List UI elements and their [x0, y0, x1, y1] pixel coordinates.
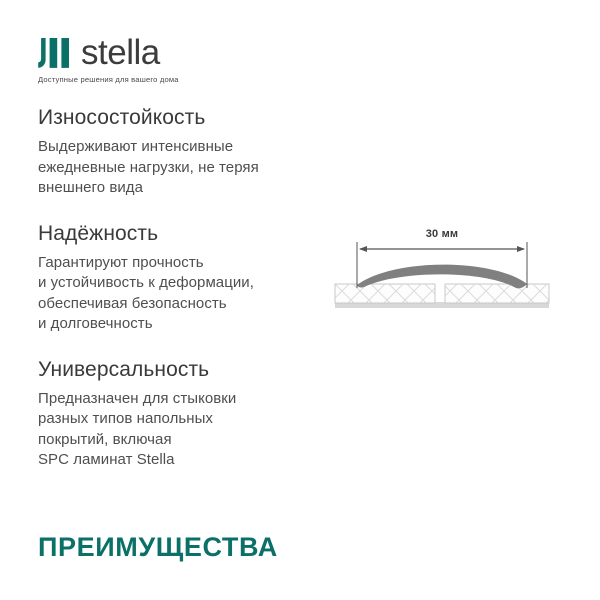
feature-body: Выдерживают интенсивные ежедневные нагру…: [38, 137, 323, 199]
floor-panel-left: [335, 284, 435, 303]
feature-item: Универсальность Предназначен для стыковк…: [38, 357, 323, 471]
feature-title: Надёжность: [38, 221, 323, 247]
feature-body: Предназначен для стыковки разных типов н…: [38, 389, 323, 471]
page-headline: ПРЕИМУЩЕСТВА: [38, 531, 278, 563]
stella-bars-logo-icon: [38, 38, 72, 68]
brand-tagline: Доступные решения для вашего дома: [38, 75, 298, 85]
feature-body: Гарантируют прочность и устойчивость к д…: [38, 253, 323, 335]
product-cross-section-diagram: 30 мм: [333, 228, 551, 316]
brand-wordmark: stella: [81, 36, 160, 70]
brand-logo: stella Доступные решения для вашего дома: [38, 36, 298, 85]
feature-title: Износостойкость: [38, 105, 323, 131]
feature-list: Износостойкость Выдерживают интенсивные …: [38, 105, 323, 471]
feature-item: Надёжность Гарантируют прочность и устой…: [38, 221, 323, 335]
dim-arrowhead-right: [517, 246, 525, 252]
dim-arrowhead-left: [359, 246, 367, 252]
feature-item: Износостойкость Выдерживают интенсивные …: [38, 105, 323, 199]
diagram-svg: [333, 228, 551, 316]
dimension-label: 30 мм: [333, 228, 551, 240]
logo-row: stella: [38, 36, 298, 70]
feature-title: Универсальность: [38, 357, 323, 383]
floor-panel-right: [445, 284, 549, 303]
promo-card: stella Доступные решения для вашего дома…: [0, 0, 600, 600]
